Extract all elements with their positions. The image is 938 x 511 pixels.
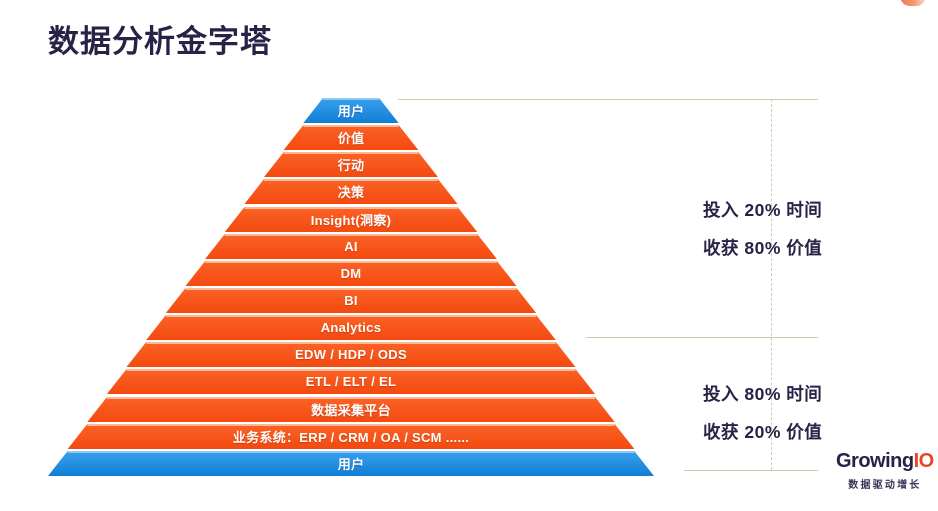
pyramid-layer-label: 决策 xyxy=(338,182,365,201)
pyramid-layer: 价值 xyxy=(48,125,654,150)
annotation-lower-line1: 投入 80% 时间 xyxy=(703,381,822,406)
pyramid-layer-label: 价值 xyxy=(338,128,365,147)
annotation-upper-line1: 投入 20% 时间 xyxy=(703,197,822,222)
pyramid-layer-label: EDW / HDP / ODS xyxy=(295,347,407,362)
pyramid-layer: 数据采集平台 xyxy=(48,397,654,422)
annotation-upper-line2: 收获 80% 价值 xyxy=(703,235,822,260)
pyramid-layer: 用户 xyxy=(48,451,654,476)
pyramid-layer: ETL / ELT / EL xyxy=(48,369,654,394)
pyramid-layer-label: 数据采集平台 xyxy=(311,400,391,419)
logo-word-accent: IO xyxy=(914,450,934,472)
pyramid-layer-label: Insight(洞察) xyxy=(311,210,392,229)
pyramid-layer: Analytics xyxy=(48,315,654,340)
growingio-logo: GrowingIO 数据驱动增长 xyxy=(836,451,934,491)
pyramid-layer: DM xyxy=(48,261,654,286)
pyramid-layer: 决策 xyxy=(48,179,654,204)
annotation-upper: 投入 20% 时间 收获 80% 价值 xyxy=(703,197,822,273)
pyramid-layer-label: BI xyxy=(344,293,358,308)
rule-middle xyxy=(586,337,818,338)
annotation-lower-line2: 收获 20% 价值 xyxy=(703,419,822,444)
pyramid-layer: 用户 xyxy=(48,98,654,123)
corner-decoration-icon xyxy=(900,0,926,6)
pyramid-layer: BI xyxy=(48,288,654,313)
page-title: 数据分析金字塔 xyxy=(48,16,272,61)
slide-canvas: 数据分析金字塔 用户价值行动决策Insight(洞察)AIDMBIAnalyti… xyxy=(0,0,938,511)
pyramid-diagram: 用户价值行动决策Insight(洞察)AIDMBIAnalyticsEDW / … xyxy=(48,98,654,478)
pyramid-layer: 行动 xyxy=(48,152,654,177)
pyramid-layer: 业务系统：ERP / CRM / OA / SCM ...... xyxy=(48,424,654,449)
pyramid-layer: EDW / HDP / ODS xyxy=(48,342,654,367)
rule-top xyxy=(398,99,818,100)
pyramid-layer-label: DM xyxy=(341,266,362,281)
pyramid-layer-label: 用户 xyxy=(338,454,365,473)
logo-word-primary: Growing xyxy=(836,450,914,472)
pyramid-layer-label: ETL / ELT / EL xyxy=(306,374,396,389)
pyramid-layer-label: 用户 xyxy=(338,101,365,120)
pyramid-layer: AI xyxy=(48,234,654,259)
annotation-lower: 投入 80% 时间 收获 20% 价值 xyxy=(703,381,822,457)
pyramid-layer-label: AI xyxy=(344,239,358,254)
pyramid-layer-label: 业务系统：ERP / CRM / OA / SCM ...... xyxy=(233,427,469,446)
pyramid-layer-label: 行动 xyxy=(338,155,365,174)
pyramid-layer: Insight(洞察) xyxy=(48,207,654,232)
pyramid-layer-label: Analytics xyxy=(321,320,382,335)
logo-wordmark: GrowingIO xyxy=(836,451,934,471)
rule-bottom xyxy=(684,470,818,471)
logo-tagline: 数据驱动增长 xyxy=(836,476,934,491)
